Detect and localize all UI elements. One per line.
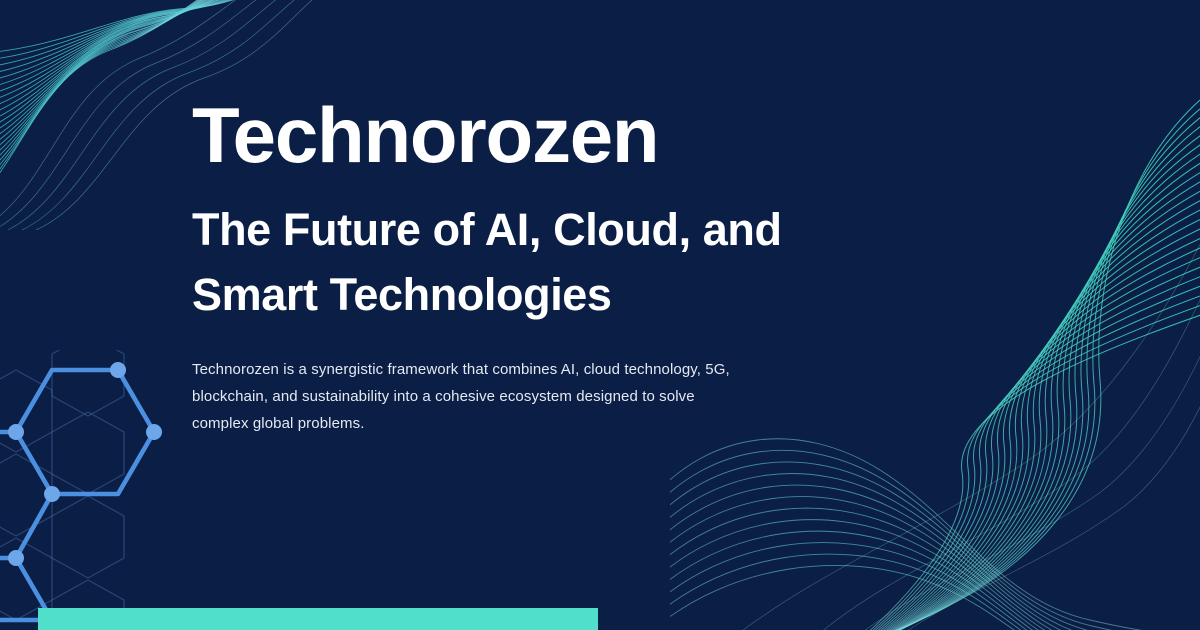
banner-description: Technorozen is a synergistic framework t…: [192, 328, 748, 437]
promotional-banner: Technorozen The Future of AI, Cloud, and…: [0, 0, 1200, 630]
page-title: Technorozen: [192, 0, 892, 174]
teal-accent-bar: [38, 608, 598, 630]
banner-subtitle: The Future of AI, Cloud, and Smart Techn…: [192, 174, 852, 328]
banner-content: Technorozen The Future of AI, Cloud, and…: [192, 0, 892, 437]
hexagon-network-graphic: [0, 350, 220, 630]
